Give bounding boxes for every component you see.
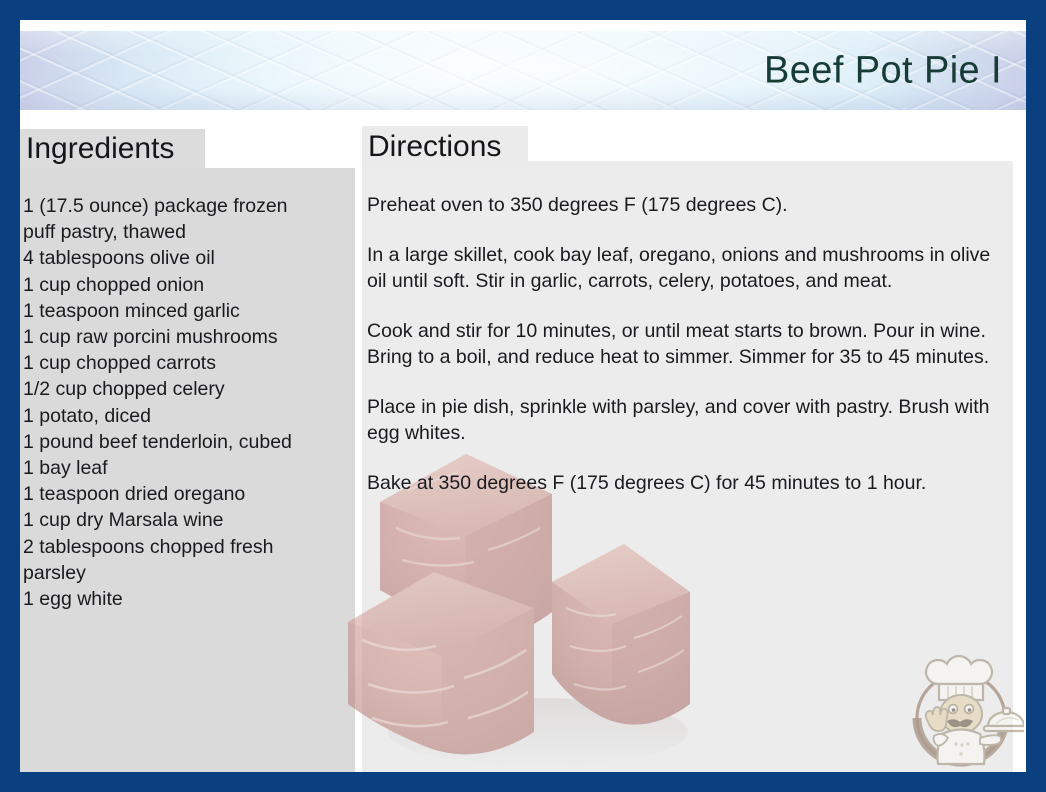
ingredient-line: 1 pound beef tenderloin, cubed xyxy=(23,429,353,455)
direction-step: Bake at 350 degrees F (175 degrees C) fo… xyxy=(367,470,1008,496)
ingredients-list: 1 (17.5 ounce) package frozenpuff pastry… xyxy=(23,193,353,612)
ingredient-line: 1 cup chopped carrots xyxy=(23,350,353,376)
directions-list: Preheat oven to 350 degrees F (175 degre… xyxy=(367,192,1008,496)
ingredient-line: 1 cup chopped onion xyxy=(23,272,353,298)
direction-step: In a large skillet, cook bay leaf, orega… xyxy=(367,242,1008,294)
chef-mascot-logo-icon xyxy=(898,648,1024,774)
ingredient-line: 1 potato, diced xyxy=(23,403,353,429)
recipe-title: Beef Pot Pie I xyxy=(764,49,1002,92)
ingredient-line: 1 bay leaf xyxy=(23,455,353,481)
ingredient-line: 1 (17.5 ounce) package frozen xyxy=(23,193,353,219)
ingredient-line: 1/2 cup chopped celery xyxy=(23,376,353,402)
ingredient-line: 1 cup dry Marsala wine xyxy=(23,507,353,533)
direction-step: Preheat oven to 350 degrees F (175 degre… xyxy=(367,192,1008,218)
header-banner: Beef Pot Pie I xyxy=(20,31,1026,110)
ingredient-line: 1 teaspoon dried oregano xyxy=(23,481,353,507)
tab-ingredients[interactable]: Ingredients xyxy=(20,129,205,168)
ingredient-line: 1 teaspoon minced garlic xyxy=(23,298,353,324)
ingredient-line: 1 cup raw porcini mushrooms xyxy=(23,324,353,350)
ingredient-line: 2 tablespoons chopped fresh xyxy=(23,534,353,560)
ingredient-line: parsley xyxy=(23,560,353,586)
recipe-card: Beef Pot Pie I xyxy=(0,0,1046,792)
direction-step: Place in pie dish, sprinkle with parsley… xyxy=(367,394,1008,446)
direction-step: Cook and stir for 10 minutes, or until m… xyxy=(367,318,1008,370)
ingredients-heading: Ingredients xyxy=(26,134,174,164)
directions-heading: Directions xyxy=(368,132,501,162)
tab-directions[interactable]: Directions xyxy=(362,126,528,168)
ingredient-line: puff pastry, thawed xyxy=(23,219,353,245)
ingredient-line: 4 tablespoons olive oil xyxy=(23,245,353,271)
ingredient-line: 1 egg white xyxy=(23,586,353,612)
